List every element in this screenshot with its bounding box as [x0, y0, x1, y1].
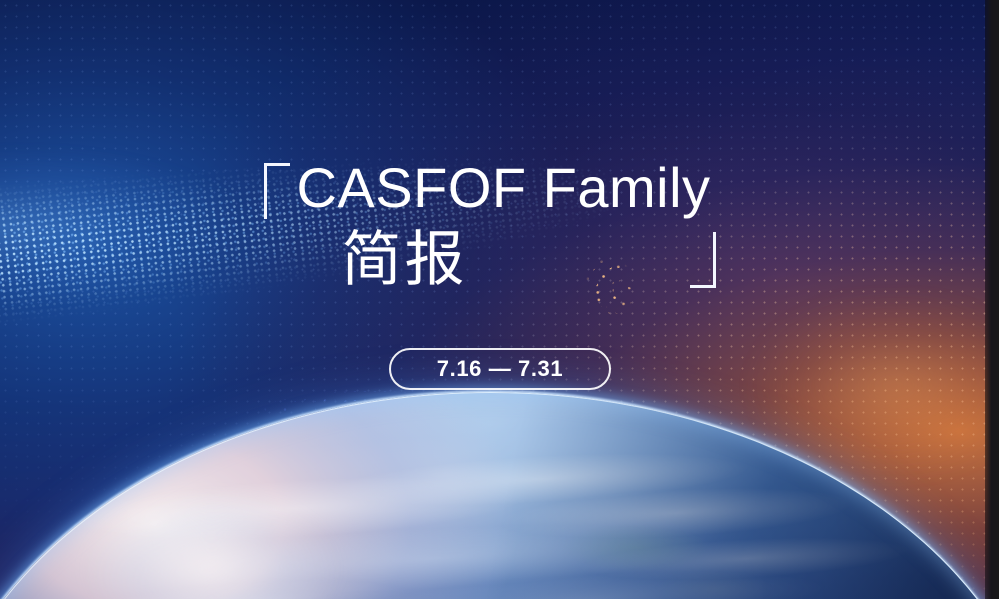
poster-slide: CASFOF Family 简报 7.16 — 7.31	[0, 0, 999, 599]
bracket-close-icon	[690, 232, 716, 288]
date-range-label: 7.16 — 7.31	[437, 356, 563, 382]
right-edge-strip	[985, 0, 999, 599]
date-range-badge: 7.16 — 7.31	[389, 348, 611, 390]
page-title-chinese: 简报	[0, 230, 999, 290]
poster-content: CASFOF Family 简报 7.16 — 7.31	[0, 0, 999, 599]
page-title-english: CASFOF Family	[0, 160, 999, 216]
